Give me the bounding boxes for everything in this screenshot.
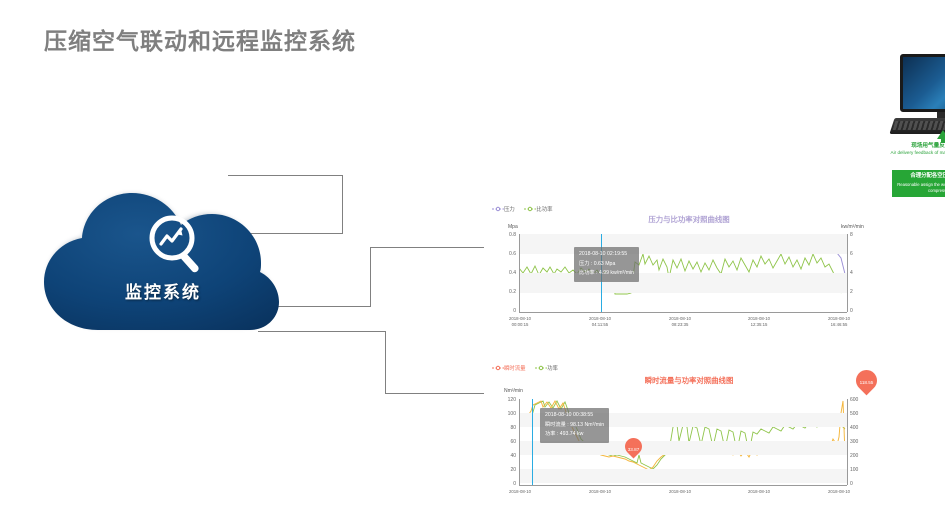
pressure-y2tick-4: 0 <box>850 308 864 314</box>
pressure-xtick-0: 2018-08-10 00:00:15 <box>493 316 547 328</box>
pressure-axis-bottom <box>519 312 847 313</box>
flow-min-marker-label: 33.87 <box>625 441 642 458</box>
pressure-xtick-3: 2018-08-10 12:35:15 <box>732 316 786 328</box>
flow-y2tick-6: 0 <box>850 481 870 487</box>
flow-y2tick-3: 300 <box>850 439 870 445</box>
legend-label-pressure: 压力 <box>504 207 515 213</box>
cloud-label: 监控系统 <box>38 278 288 303</box>
legend-item-flow[interactable]: 瞬时流量 <box>492 364 526 373</box>
flow-max-marker[interactable]: 118.55 <box>856 370 877 398</box>
legend-item-specific-power[interactable]: 比功率 <box>524 205 552 214</box>
xtick-date: 2018-08-10 <box>748 316 770 321</box>
flow-axis-left <box>519 399 520 485</box>
flow-chart-panel: 瞬时流量 功率 瞬时流量与功率对照曲线图 Nm³/min 120 100 80 … <box>484 362 890 522</box>
connector-line-mid-riser <box>370 247 372 307</box>
pressure-ytick-0: 0.8 <box>494 232 516 238</box>
flow-xtick-2: 2018-08-10 <box>653 489 707 495</box>
flow-xtick-0: 2018-08-10 <box>493 489 547 495</box>
xtick-time: 04:11:55 <box>592 322 608 327</box>
legend-marker-flow <box>492 365 504 373</box>
flow-xtick-1: 2018-08-10 <box>573 489 627 495</box>
legend-marker-power <box>535 365 547 373</box>
flow-y2tick-1: 500 <box>850 411 870 417</box>
flow-max-marker-label: 118.55 <box>856 374 877 391</box>
pressure-tooltip-line2: 比功率 : 4.99 kw/m³/min <box>579 269 634 279</box>
pressure-plot-area[interactable] <box>519 234 847 312</box>
xtick-date: 2018-08-10 <box>669 316 691 321</box>
assign-caption-cn: 合理分配各空压工作状态 <box>894 173 945 181</box>
monitor-screen-icon <box>900 54 945 112</box>
pressure-ytick-4: 0 <box>494 308 516 314</box>
pressure-chart-panel: 压力 比功率 压力与比功率对照曲线图 Mpa kw/m³/min 0.8 0.6… <box>484 202 890 334</box>
flow-y2tick-5: 100 <box>850 467 870 473</box>
legend-marker-specific-power <box>524 206 536 214</box>
legend-label-specific-power: 比功率 <box>536 207 552 213</box>
pressure-right-unit: kw/m³/min <box>841 224 864 230</box>
connector-line-bot-riser <box>385 331 387 394</box>
xtick-date: 2018-08-10 <box>509 316 531 321</box>
flow-tooltip-line2: 功率 : 493.74 kw <box>545 430 604 440</box>
flow-xtick-4: 2018-08-10 <box>812 489 866 495</box>
pressure-ytick-1: 0.6 <box>494 251 516 257</box>
flow-y2tick-2: 400 <box>850 425 870 431</box>
legend-item-power[interactable]: 功率 <box>535 364 558 373</box>
pressure-y2tick-3: 2 <box>850 289 864 295</box>
pressure-chart-title: 压力与比功率对照曲线图 <box>584 214 794 225</box>
legend-item-pressure[interactable]: 压力 <box>492 205 515 214</box>
pressure-chart-legend: 压力 比功率 <box>492 205 560 214</box>
pressure-left-unit: Mpa <box>508 224 518 230</box>
feedback-caption-cn: 现场用气量反馈主控中心 <box>890 142 945 150</box>
up-arrow-icon <box>937 130 945 139</box>
xtick-time: 00:00:15 <box>512 322 529 327</box>
flow-axis-right <box>847 399 848 485</box>
flow-axis-bottom <box>519 485 847 486</box>
xtick-date: 2018-08-10 <box>589 316 611 321</box>
flow-ytick-5: 20 <box>492 467 516 473</box>
xtick-time: 08:23:35 <box>672 322 689 327</box>
pressure-y2tick-2: 4 <box>850 270 864 276</box>
pressure-tooltip-line1: 压力 : 0.63 Mpa <box>579 260 634 270</box>
flow-chart-legend: 瞬时流量 功率 <box>492 364 566 373</box>
pressure-tooltip-timestamp: 2018-08-10 02:19:55 <box>579 250 634 260</box>
page-title: 压缩空气联动和远程监控系统 <box>44 22 356 56</box>
monitoring-cloud[interactable]: 监控系统 <box>38 192 288 337</box>
flow-tooltip: 2018-08-10 00:38:55 瞬时流量 : 98.13 Nm³/min… <box>540 408 609 443</box>
feedback-caption: 现场用气量反馈主控中心 Air delivery feedback of mai… <box>890 142 945 157</box>
pressure-y2tick-0: 8 <box>850 232 864 238</box>
system-diagram-panel: 现场用气量反馈主控中心 Air delivery feedback of mai… <box>432 18 937 203</box>
keyboard-keys <box>893 121 945 130</box>
flow-left-unit: Nm³/min <box>504 388 523 394</box>
pressure-tooltip: 2018-08-10 02:19:55 压力 : 0.63 Mpa 比功率 : … <box>574 247 639 282</box>
flow-band-3 <box>519 469 847 483</box>
flow-ytick-0: 120 <box>492 397 516 403</box>
pressure-ytick-2: 0.4 <box>494 270 516 276</box>
feedback-caption-en: Air delivery feedback of main control ce… <box>891 150 945 155</box>
connector-line-mid-upper <box>371 247 491 249</box>
pressure-y2tick-1: 6 <box>850 251 864 257</box>
pressure-xtick-2: 2018-08-10 08:23:35 <box>653 316 707 328</box>
legend-marker-pressure <box>492 206 504 214</box>
pressure-xtick-1: 2018-08-10 04:11:55 <box>573 316 627 328</box>
pressure-xtick-4: 2018-08-10 16:46:55 <box>812 316 866 328</box>
flow-ytick-6: 0 <box>492 481 516 487</box>
xtick-time: 16:46:55 <box>831 322 848 327</box>
flow-ytick-1: 100 <box>492 411 516 417</box>
flow-y2tick-4: 200 <box>850 453 870 459</box>
flow-crosshair <box>532 399 533 485</box>
pressure-axis-left <box>519 234 520 312</box>
assign-caption-en: Reasonable assign the working states of … <box>897 182 945 193</box>
flow-tooltip-timestamp: 2018-08-10 00:38:55 <box>545 411 604 421</box>
flow-min-marker[interactable]: 33.87 <box>625 438 642 462</box>
assign-caption-box: 合理分配各空压工作状态 Reasonable assign the workin… <box>892 170 945 197</box>
xtick-date: 2018-08-10 <box>828 316 850 321</box>
flow-tooltip-line1: 瞬时流量 : 98.13 Nm³/min <box>545 421 604 431</box>
pressure-ytick-3: 0.2 <box>494 289 516 295</box>
plot-band-1 <box>519 234 847 254</box>
plot-band-2 <box>519 273 847 293</box>
pressure-axis-right <box>847 234 848 312</box>
legend-label-flow: 瞬时流量 <box>504 366 526 372</box>
xtick-time: 12:35:15 <box>751 322 768 327</box>
flow-ytick-2: 80 <box>492 425 516 431</box>
flow-ytick-4: 40 <box>492 453 516 459</box>
connector-line-bot-lower <box>385 393 490 395</box>
flow-chart-title: 瞬时流量与功率对照曲线图 <box>584 375 794 386</box>
flow-band-2 <box>519 441 847 455</box>
legend-label-power: 功率 <box>547 366 558 372</box>
connector-line-top-riser <box>342 176 344 234</box>
magnifier-chart-icon <box>144 212 210 278</box>
flow-xtick-3: 2018-08-10 <box>732 489 786 495</box>
flow-ytick-3: 60 <box>492 439 516 445</box>
